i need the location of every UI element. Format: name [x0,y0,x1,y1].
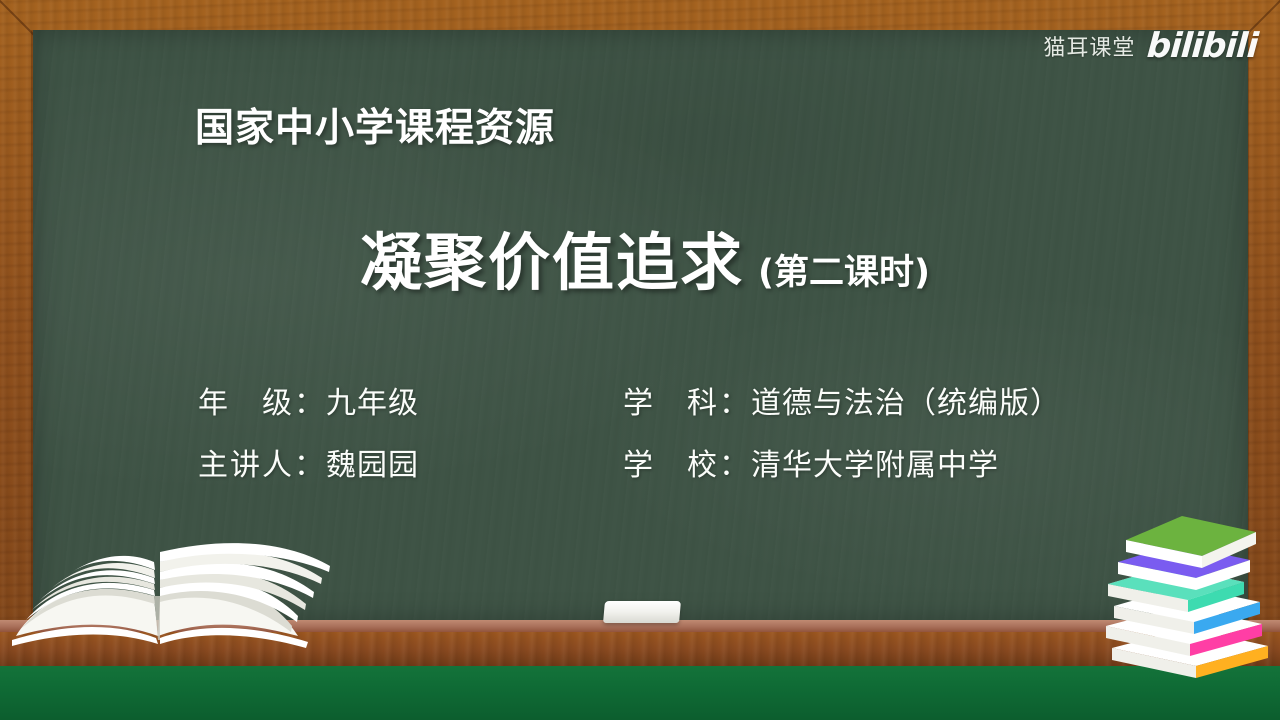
meta-subject-label: 学 科： [623,378,751,422]
watermark: 猫耳课堂 bilibili [1043,26,1258,66]
lesson-meta: 年 级： 九年级 学 科： 道德与法治（统编版） 主讲人： 魏园园 学 校： 清… [198,378,1158,484]
book-stack-icon [1092,498,1272,680]
lesson-title: 凝聚价值追求 (第二课时) [0,212,1280,302]
eraser-icon [603,601,681,623]
meta-presenter-label: 主讲人： [198,440,326,484]
page-headline: 国家中小学课程资源 [195,97,555,153]
slide-canvas: 猫耳课堂 bilibili 国家中小学课程资源 凝聚价值追求 (第二课时) 年 … [0,0,1280,720]
meta-subject: 学 科： 道德与法治（统编版） [623,378,1158,422]
meta-grade-value: 九年级 [326,378,419,422]
meta-school: 学 校： 清华大学附属中学 [623,440,1158,484]
meta-school-label: 学 校： [623,440,751,484]
lesson-title-session: (第二课时) [758,244,930,295]
meta-presenter-value: 魏园园 [326,440,419,484]
lesson-title-main: 凝聚价值追求 [360,212,744,302]
open-book-icon [8,540,358,650]
bilibili-logo: bilibili [1146,26,1259,66]
meta-grade-label: 年 级： [198,378,326,422]
meta-subject-value: 道德与法治（统编版） [751,378,1061,422]
meta-school-value: 清华大学附属中学 [751,440,999,484]
meta-grade: 年 级： 九年级 [198,378,623,422]
watermark-channel-label: 猫耳课堂 [1043,30,1135,62]
meta-presenter: 主讲人： 魏园园 [198,440,623,484]
floor [0,666,1280,720]
